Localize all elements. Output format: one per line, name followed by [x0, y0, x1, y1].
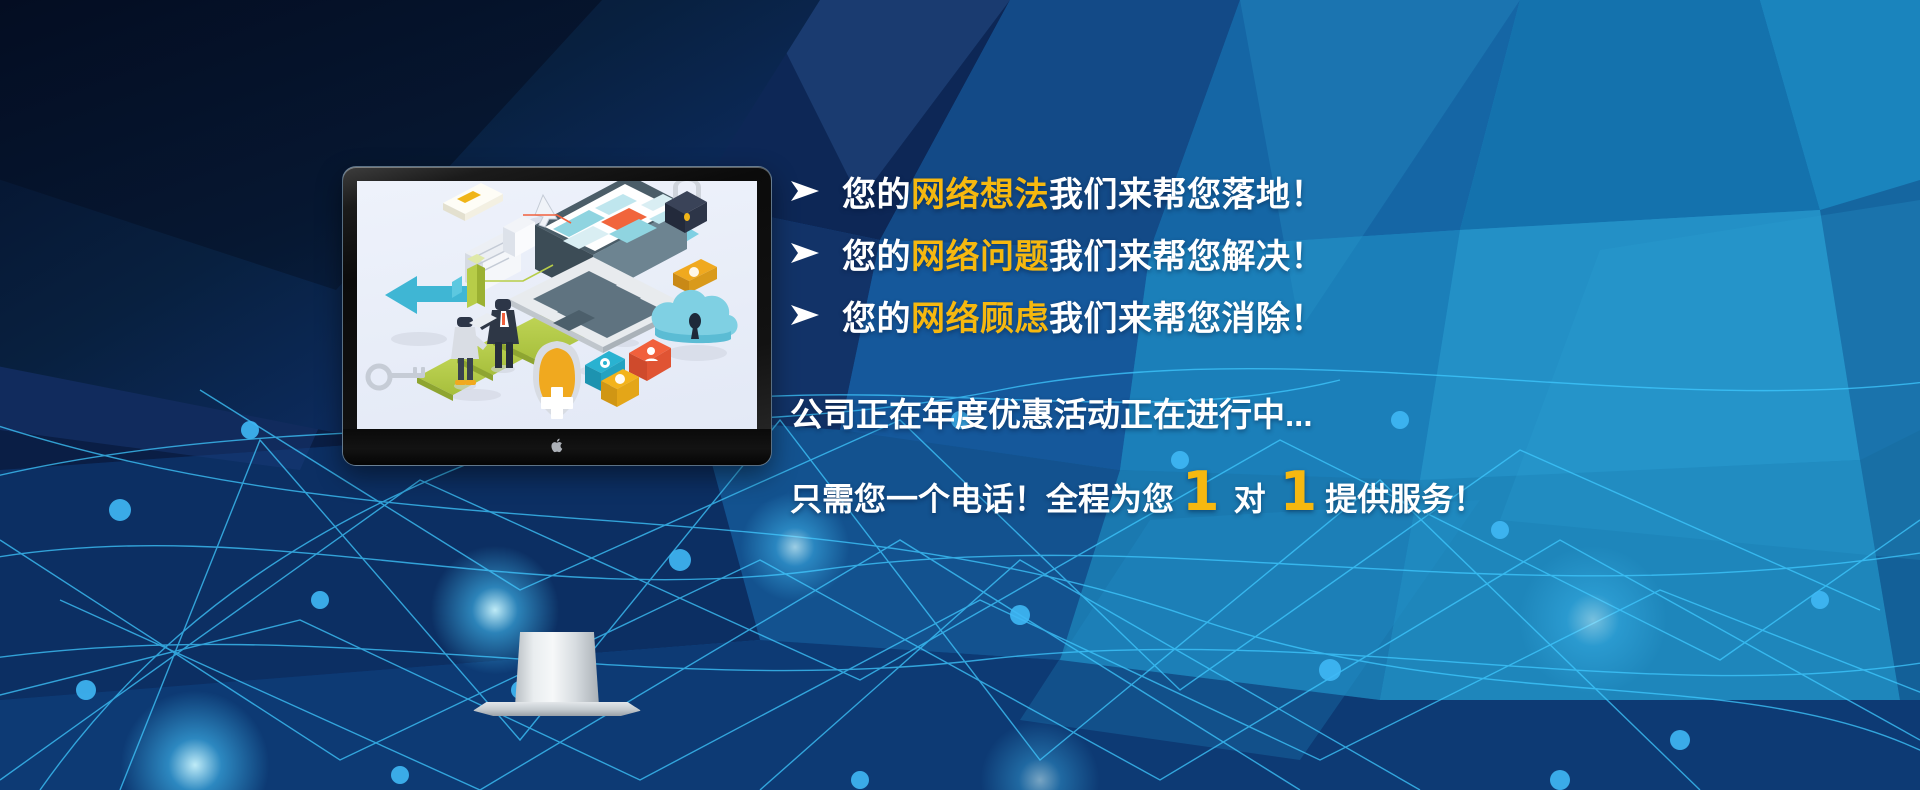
imac-monitor-illustration	[342, 166, 772, 466]
bullet-text-1: 您的网络想法我们来帮您落地！	[842, 167, 1325, 216]
left-arrow-icon	[385, 276, 470, 314]
arrow-right-triangle-icon	[790, 304, 842, 326]
apple-logo-icon	[551, 438, 564, 453]
monitor-chin	[343, 429, 771, 465]
arrow-right-triangle-icon	[790, 242, 842, 264]
bullet-1-highlight: 网络想法	[911, 176, 1049, 214]
arrow-right-triangle-icon	[790, 180, 842, 202]
marketing-copy-block: 您的网络想法我们来帮您落地！ 您的网络问题我们来帮您解决！ 您的网络顾虑我们来帮…	[790, 160, 1890, 520]
isometric-scene	[357, 181, 757, 429]
bullet-3-highlight: 网络顾虑	[911, 300, 1049, 338]
service-suffix: 提供服务！	[1325, 474, 1485, 520]
bullet-item-2: 您的网络问题我们来帮您解决！	[790, 222, 1890, 284]
bullet-3-pre: 您的	[842, 300, 911, 338]
hero-banner: 您的网络想法我们来帮您落地！ 您的网络问题我们来帮您解决！ 您的网络顾虑我们来帮…	[0, 0, 1920, 790]
shield-icon	[533, 341, 581, 419]
service-prefix: 只需您一个电话！全程为您	[790, 474, 1174, 520]
bullet-item-1: 您的网络想法我们来帮您落地！	[790, 160, 1890, 222]
bullet-text-3: 您的网络顾虑我们来帮您消除！	[842, 291, 1325, 340]
key-icon	[368, 366, 425, 388]
monitor-screen	[357, 181, 757, 429]
padlock-icon	[665, 181, 707, 233]
card-icon	[443, 181, 503, 221]
bullet-2-pre: 您的	[842, 238, 911, 276]
bullet-1-post: 我们来帮您落地！	[1049, 176, 1325, 214]
service-middle: 对	[1228, 474, 1272, 520]
bullet-1-pre: 您的	[842, 176, 911, 214]
bullet-2-post: 我们来帮您解决！	[1049, 238, 1325, 276]
promo-line: 公司正在年度优惠活动正在进行中...	[790, 388, 1890, 436]
bullet-item-3: 您的网络顾虑我们来帮您消除！	[790, 284, 1890, 346]
bullet-text-2: 您的网络问题我们来帮您解决！	[842, 229, 1325, 278]
bullet-2-highlight: 网络问题	[911, 238, 1049, 276]
bullet-3-post: 我们来帮您消除！	[1049, 300, 1325, 338]
monitor-stand-base	[473, 702, 641, 716]
power-button-icon	[673, 259, 717, 293]
service-line: 只需您一个电话！全程为您 1 对 1 提供服务！	[790, 474, 1890, 520]
file-icon	[503, 216, 535, 257]
monitor-bezel	[342, 166, 772, 466]
monitor-stand-neck	[515, 632, 599, 706]
